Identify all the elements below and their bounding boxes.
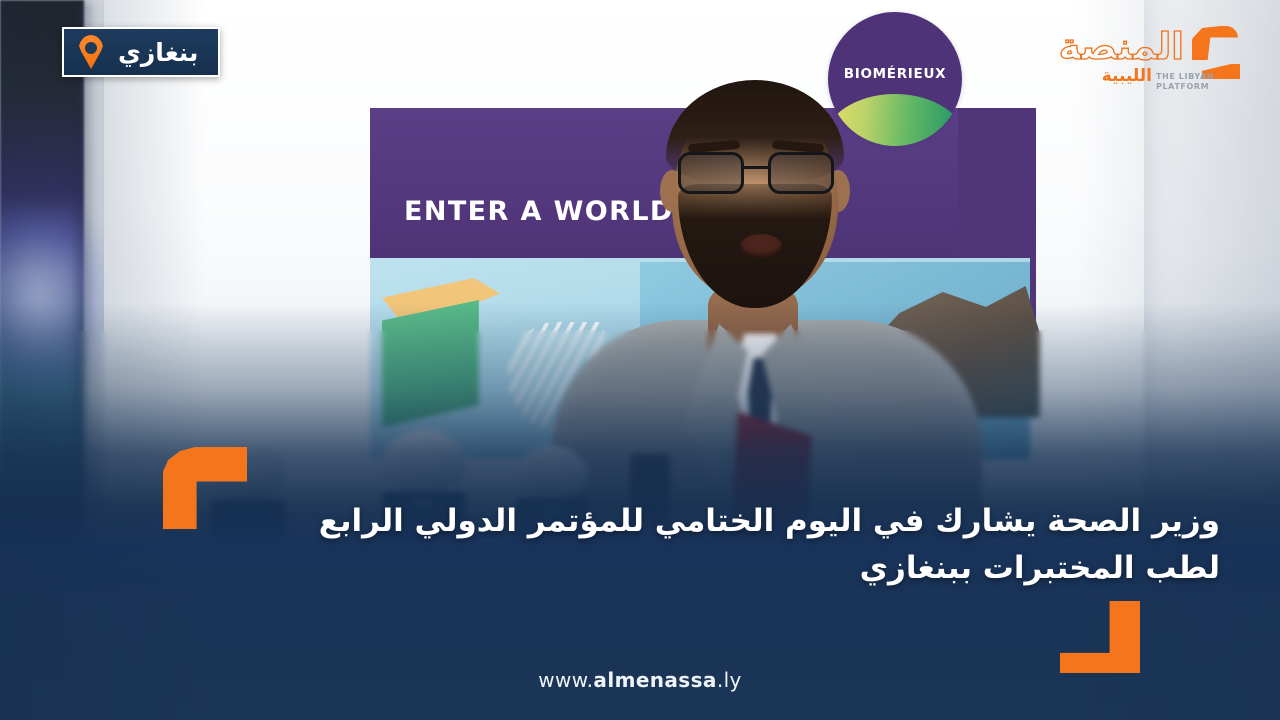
logo-arabic-main: المنصة xyxy=(1059,28,1184,65)
pin-hole xyxy=(85,42,97,54)
location-pin-icon xyxy=(78,35,104,69)
news-card: ENTER A WORLD O TY BIOMÉRIEUX xyxy=(0,0,1280,720)
logo-english-line1: THE LIBYAN xyxy=(1156,72,1216,82)
almenassa-logo[interactable]: المنصة الليبية THE LIBYAN PLATFORM xyxy=(1040,22,1238,100)
logo-english-text: THE LIBYAN PLATFORM xyxy=(1156,72,1216,92)
headline-line-2: لطب المختبرات ببنغازي xyxy=(220,545,1220,592)
logo-hook-shape xyxy=(1192,26,1238,60)
headline-line-1: وزير الصحة يشارك في اليوم الختامي للمؤتم… xyxy=(220,498,1220,545)
url-tld: .ly xyxy=(717,668,742,692)
headline: وزير الصحة يشارك في اليوم الختامي للمؤتم… xyxy=(220,498,1220,591)
logo-english-line2: PLATFORM xyxy=(1156,82,1216,92)
url-prefix: www. xyxy=(538,668,593,692)
logo-arabic-sub: الليبية xyxy=(1102,68,1152,85)
logo-hook-mark-icon xyxy=(1184,26,1240,78)
location-label: بنغازي xyxy=(118,40,198,65)
location-badge[interactable]: بنغازي xyxy=(62,27,220,77)
website-url[interactable]: www.almenassa.ly xyxy=(0,668,1280,692)
edge-vignette xyxy=(0,0,1280,720)
url-brand: almenassa xyxy=(593,668,716,692)
